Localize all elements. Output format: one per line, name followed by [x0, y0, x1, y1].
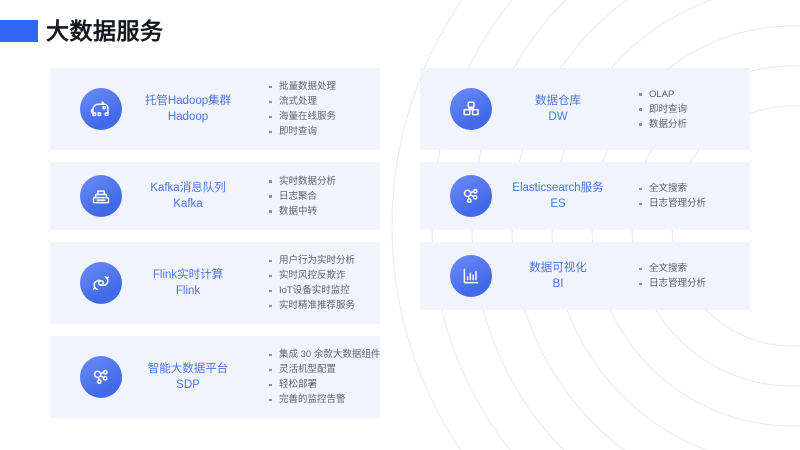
service-card-feature-list: 集成 30 余款大数据组件灵活机型配置轻松部署完善的监控告警 — [254, 347, 380, 407]
service-card[interactable]: 智能大数据平台SDP集成 30 余款大数据组件灵活机型配置轻松部署完善的监控告警 — [50, 336, 380, 418]
service-card-feature-item: 灵活机型配置 — [268, 362, 380, 377]
service-card-title-cn: Flink实时计算 — [126, 267, 250, 283]
service-card-feature-item: 即时查询 — [638, 102, 736, 117]
service-card-title-cn: Kafka消息队列 — [126, 180, 250, 196]
service-card-feature-list: 全文搜索日志管理分析 — [624, 261, 736, 291]
service-card[interactable]: Kafka消息队列Kafka实时数据分析日志聚合数据中转 — [50, 162, 380, 230]
page-header: 大数据服务 — [0, 14, 164, 48]
service-card-feature-item: 完善的监控告警 — [268, 392, 380, 407]
service-card-feature-list: 实时数据分析日志聚合数据中转 — [254, 174, 366, 219]
elephant-icon — [80, 88, 122, 130]
service-column-right: 数据仓库DWOLAP即时查询数据分析 Elasticsearch服务ES全文搜索… — [420, 68, 750, 322]
service-card-feature-item: 集成 30 余款大数据组件 — [268, 347, 380, 362]
service-card[interactable]: Flink实时计算Flink用户行为实时分析实时风控反欺诈IoT设备实时监控实时… — [50, 242, 380, 324]
cubes-icon — [450, 88, 492, 130]
message-queue-icon — [80, 175, 122, 217]
service-column-left: 托管Hadoop集群Hadoop批量数据处理流式处理海量在线服务即时查询 Kaf… — [50, 68, 380, 430]
service-card[interactable]: 托管Hadoop集群Hadoop批量数据处理流式处理海量在线服务即时查询 — [50, 68, 380, 150]
service-card-title-cn: Elasticsearch服务 — [496, 180, 620, 196]
service-card-title-cn: 数据可视化 — [496, 260, 620, 276]
service-card-feature-item: 全文搜索 — [638, 181, 736, 196]
service-card-feature-item: 数据分析 — [638, 117, 736, 132]
service-card-title-en: SDP — [126, 377, 250, 393]
search-nodes-icon — [450, 175, 492, 217]
service-card-title-cn: 托管Hadoop集群 — [126, 93, 250, 109]
service-card-title-en: ES — [496, 196, 620, 212]
service-card-title-cn: 智能大数据平台 — [126, 361, 250, 377]
service-card-feature-item: 实时数据分析 — [268, 174, 366, 189]
service-card-feature-item: 全文搜索 — [638, 261, 736, 276]
service-card-feature-list: 批量数据处理流式处理海量在线服务即时查询 — [254, 79, 366, 139]
service-card-names: 智能大数据平台SDP — [122, 361, 254, 393]
service-card-feature-item: 轻松部署 — [268, 377, 380, 392]
service-card-feature-item: 数据中转 — [268, 204, 366, 219]
service-card[interactable]: 数据仓库DWOLAP即时查询数据分析 — [420, 68, 750, 150]
service-card-title-en: BI — [496, 276, 620, 292]
squirrel-icon — [80, 262, 122, 304]
service-card-title-cn: 数据仓库 — [496, 93, 620, 109]
service-card-feature-item: OLAP — [638, 87, 736, 102]
title-accent-marker — [0, 20, 38, 42]
service-card-names: Elasticsearch服务ES — [492, 180, 624, 212]
service-card-feature-item: IoT设备实时监控 — [268, 283, 366, 298]
page-title: 大数据服务 — [46, 20, 164, 43]
service-card-feature-list: OLAP即时查询数据分析 — [624, 87, 736, 132]
service-card[interactable]: 数据可视化BI全文搜索日志管理分析 — [420, 242, 750, 310]
service-card-names: Flink实时计算Flink — [122, 267, 254, 299]
service-card-feature-list: 用户行为实时分析实时风控反欺诈IoT设备实时监控实时精准推荐服务 — [254, 253, 366, 313]
service-card-feature-item: 即时查询 — [268, 124, 366, 139]
service-card[interactable]: Elasticsearch服务ES全文搜索日志管理分析 — [420, 162, 750, 230]
nodes-icon — [80, 356, 122, 398]
service-card-title-en: Kafka — [126, 196, 250, 212]
service-card-names: 数据可视化BI — [492, 260, 624, 292]
service-card-names: Kafka消息队列Kafka — [122, 180, 254, 212]
service-card-feature-item: 日志管理分析 — [638, 196, 736, 211]
service-card-feature-item: 实时精准推荐服务 — [268, 298, 366, 313]
service-card-feature-item: 日志聚合 — [268, 189, 366, 204]
service-card-feature-item: 实时风控反欺诈 — [268, 268, 366, 283]
bar-chart-icon — [450, 255, 492, 297]
service-card-title-en: Flink — [126, 283, 250, 299]
service-card-title-en: DW — [496, 109, 620, 125]
service-card-feature-item: 海量在线服务 — [268, 109, 366, 124]
service-card-title-en: Hadoop — [126, 109, 250, 125]
service-card-names: 托管Hadoop集群Hadoop — [122, 93, 254, 125]
service-card-feature-item: 流式处理 — [268, 94, 366, 109]
service-card-names: 数据仓库DW — [492, 93, 624, 125]
service-card-feature-item: 批量数据处理 — [268, 79, 366, 94]
service-card-feature-item: 用户行为实时分析 — [268, 253, 366, 268]
service-card-feature-item: 日志管理分析 — [638, 276, 736, 291]
service-card-feature-list: 全文搜索日志管理分析 — [624, 181, 736, 211]
